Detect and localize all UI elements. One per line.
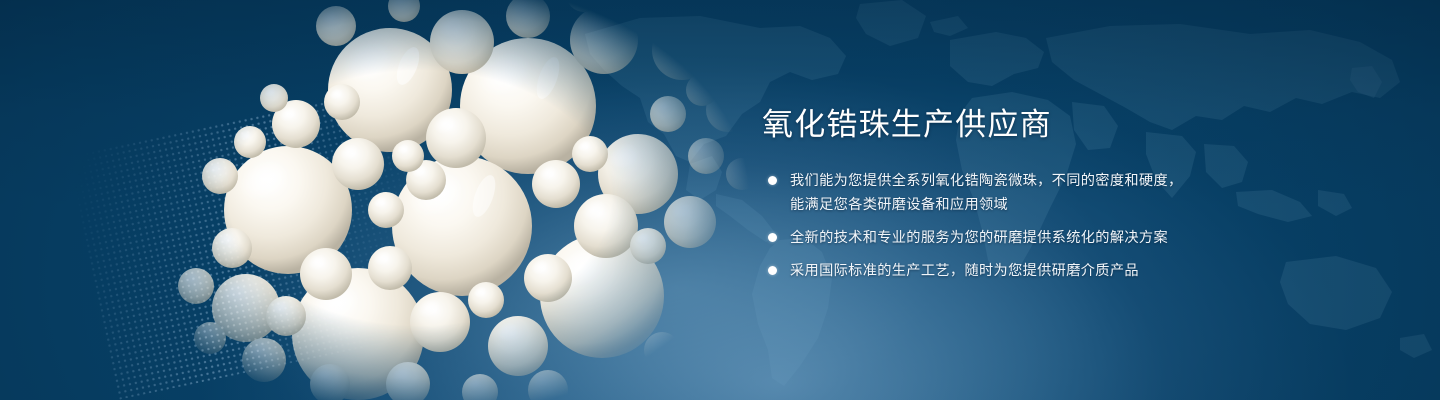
feature-list: 我们能为您提供全系列氧化锆陶瓷微珠，不同的密度和硬度， 能满足您各类研磨设备和应… [762, 169, 1322, 283]
list-item-line1: 采用国际标准的生产工艺，随时为您提供研磨介质产品 [790, 263, 1139, 279]
list-item: 我们能为您提供全系列氧化锆陶瓷微珠，不同的密度和硬度， 能满足您各类研磨设备和应… [762, 169, 1322, 217]
bullet-dot-icon [768, 176, 777, 185]
bullet-dot-icon [768, 233, 777, 242]
page-title: 氧化锆珠生产供应商 [762, 108, 1322, 143]
list-item-line2: 能满足您各类研磨设备和应用领域 [790, 193, 1322, 217]
list-item-line1: 我们能为您提供全系列氧化锆陶瓷微珠，不同的密度和硬度， [790, 173, 1183, 189]
hero-banner: 氧化锆珠生产供应商 我们能为您提供全系列氧化锆陶瓷微珠，不同的密度和硬度， 能满… [0, 0, 1440, 400]
bullet-dot-icon [768, 266, 777, 275]
list-item: 采用国际标准的生产工艺，随时为您提供研磨介质产品 [762, 259, 1322, 283]
banner-copy: 氧化锆珠生产供应商 我们能为您提供全系列氧化锆陶瓷微珠，不同的密度和硬度， 能满… [762, 108, 1322, 283]
list-item: 全新的技术和专业的服务为您的研磨提供系统化的解决方案 [762, 226, 1322, 250]
list-item-line1: 全新的技术和专业的服务为您的研磨提供系统化的解决方案 [790, 230, 1168, 246]
